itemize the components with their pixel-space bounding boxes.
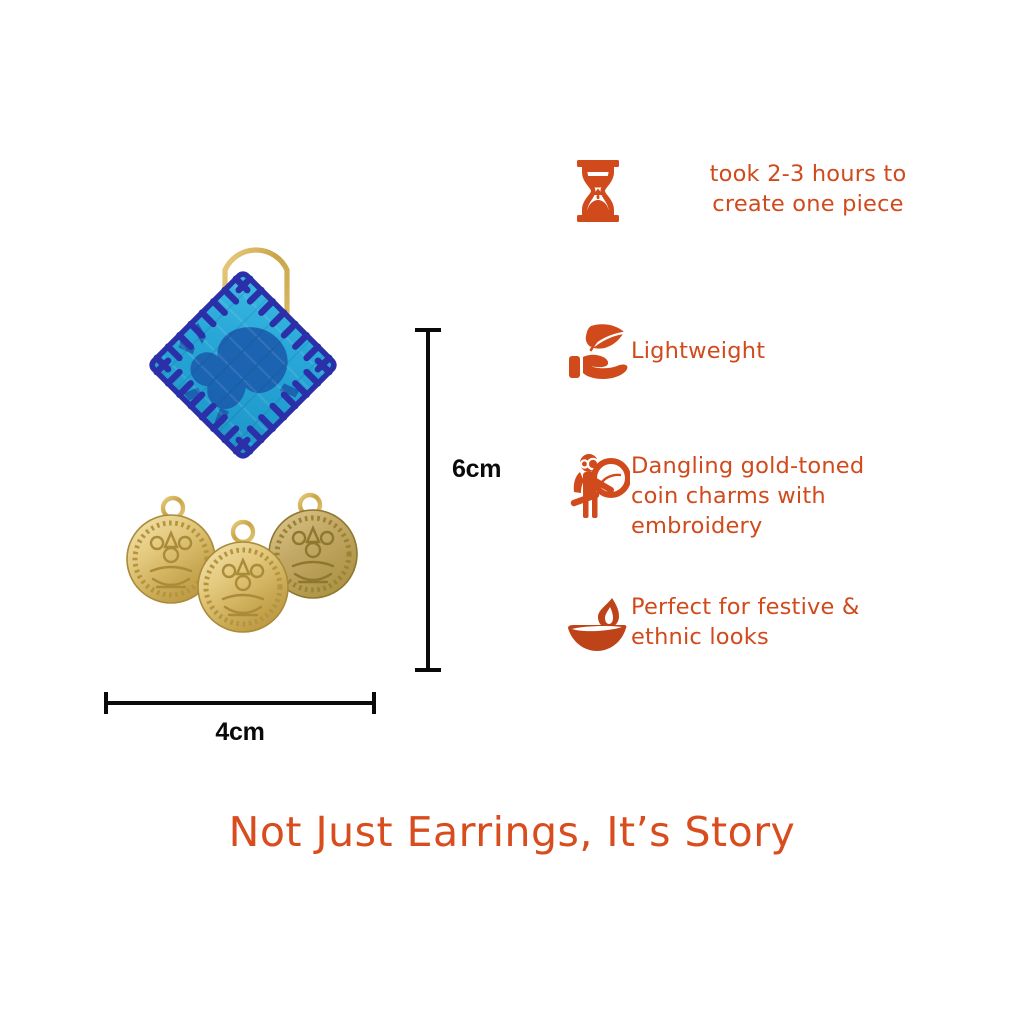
feature-label: Lightweight [631, 337, 985, 367]
feature-item-festive: Perfect for festive & ethnic looks [565, 592, 995, 654]
feature-item-lightweight: Lightweight [565, 323, 985, 381]
feature-label: Perfect for festive & ethnic looks [631, 593, 995, 653]
diya-lamp-icon [565, 592, 631, 654]
earring-illustration [95, 175, 405, 685]
person-with-magnifying-glass-icon [565, 452, 631, 518]
hourglass-icon [565, 160, 631, 222]
width-dimension-line [104, 692, 376, 714]
hand-holding-leaf-icon [565, 323, 631, 381]
feature-item-coin-charms: Dangling gold-toned coin charms with emb… [565, 452, 995, 542]
product-infographic: 6cm 4cm took 2-3 hours to cre [0, 0, 1024, 1024]
width-dimension-label: 4cm [104, 718, 376, 747]
dimension-shaft [104, 701, 376, 705]
product-image [95, 175, 405, 685]
height-dimension-line [415, 328, 439, 672]
dimension-cap-bottom [415, 668, 441, 672]
dimension-cap-right [372, 692, 376, 714]
feature-label: Dangling gold-toned coin charms with emb… [631, 452, 995, 542]
feature-label: took 2-3 hours to create one piece [631, 160, 985, 220]
height-dimension-label: 6cm [452, 455, 501, 484]
feature-item-time: took 2-3 hours to create one piece [565, 160, 985, 222]
tagline: Not Just Earrings, It’s Story [0, 808, 1024, 856]
dimension-shaft [426, 328, 430, 672]
fabric-square [147, 269, 339, 461]
coin-charm-center [198, 542, 288, 632]
